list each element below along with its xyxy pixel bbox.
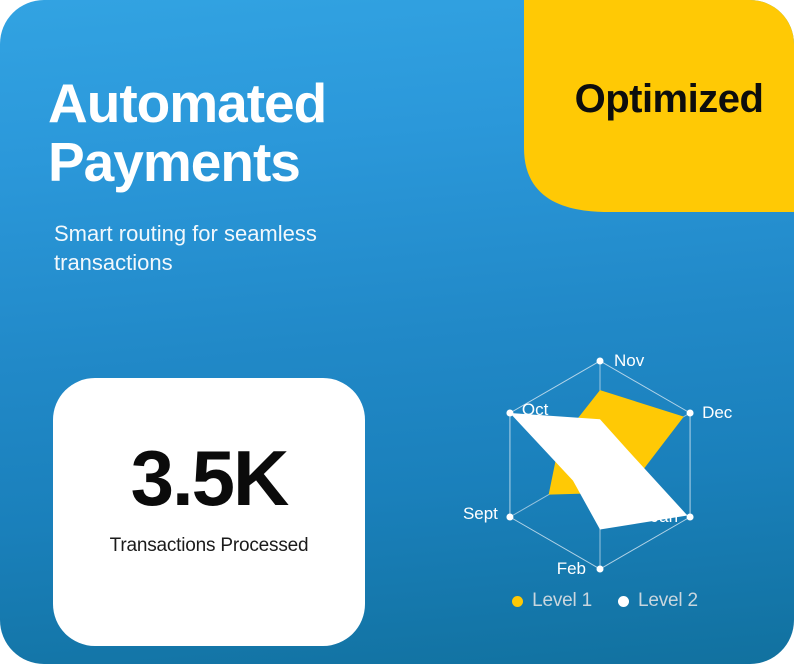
radar-axis-label-nov: Nov <box>614 352 645 370</box>
legend-dot-icon <box>512 596 523 607</box>
chart-legend: Level 1Level 2 <box>440 590 770 612</box>
optimized-badge[interactable]: Optimized <box>520 0 794 212</box>
page-title: Automated Payments <box>48 74 478 193</box>
radar-axis-label-dec: Dec <box>702 403 733 422</box>
radar-vertex-dot <box>687 410 694 417</box>
headline-block: Automated Payments Smart routing for sea… <box>48 74 478 278</box>
badge-label: Optimized <box>520 0 794 212</box>
legend-label: Level 1 <box>532 590 592 612</box>
radar-vertex-dot <box>506 514 513 521</box>
screenshot-canvas: Optimized Automated Payments Smart routi… <box>0 0 794 664</box>
radar-vertex-dot <box>506 410 513 417</box>
radar-vertex-dot <box>597 358 604 365</box>
radar-axis-label-sept: Sept <box>463 504 498 523</box>
radar-vertex-dot <box>597 566 604 573</box>
promo-card: Optimized Automated Payments Smart routi… <box>0 0 794 664</box>
stat-caption: Transactions Processed <box>110 535 309 557</box>
radar-axis-label-feb: Feb <box>557 559 586 578</box>
legend-item[interactable]: Level 2 <box>618 590 698 612</box>
radar-vertex-dot <box>687 514 694 521</box>
legend-dot-icon <box>618 596 629 607</box>
stat-tile: 3.5K Transactions Processed <box>53 378 365 646</box>
legend-label: Level 2 <box>638 590 698 612</box>
stat-value: 3.5K <box>131 439 288 517</box>
radar-axis-label-jan: Jan <box>651 507 678 526</box>
legend-item[interactable]: Level 1 <box>512 590 592 612</box>
radar-axis-label-oct: Oct <box>522 400 549 419</box>
page-subtitle: Smart routing for seamless transactions <box>54 219 384 278</box>
